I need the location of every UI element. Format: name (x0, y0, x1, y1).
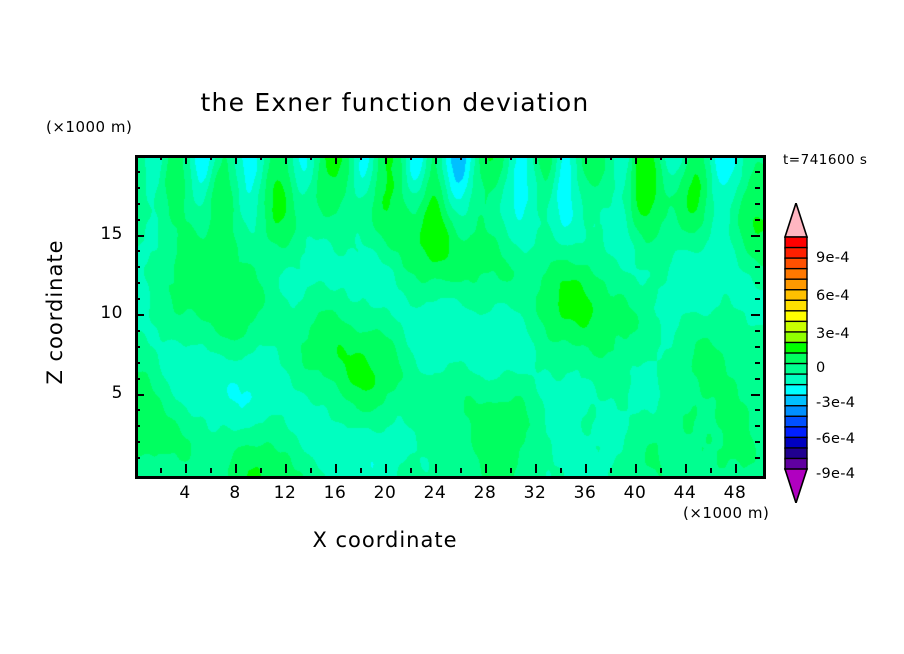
y-tick-minor (755, 219, 760, 221)
x-tick-major (385, 155, 387, 164)
x-tick-minor (410, 155, 412, 160)
y-tick-minor (135, 250, 140, 252)
x-tick-major (285, 464, 287, 473)
y-tick-minor (135, 362, 140, 364)
y-tick-minor (135, 282, 140, 284)
x-tick-minor (460, 468, 462, 473)
x-tick-minor (260, 468, 262, 473)
colorbar-band (785, 342, 807, 353)
colorbar (781, 203, 811, 503)
y-tick-minor (755, 282, 760, 284)
colorbar-band (785, 395, 807, 406)
x-tick-minor (360, 468, 362, 473)
x-tick-minor (610, 468, 612, 473)
x-tick-major (535, 464, 537, 473)
x-tick-major (735, 464, 737, 473)
y-tick-major (751, 314, 760, 316)
y-tick-minor (755, 171, 760, 173)
colorbar-band (785, 300, 807, 311)
y-tick-minor (135, 219, 140, 221)
colorbar-band (785, 237, 807, 248)
colorbar-band (785, 427, 807, 438)
y-tick-major (135, 314, 144, 316)
y-tick-minor (755, 330, 760, 332)
y-tick-minor (135, 378, 140, 380)
x-tick-major (335, 464, 337, 473)
y-tick-minor (135, 171, 140, 173)
colorbar-tick-label: 0 (816, 360, 826, 376)
x-tick-major (635, 155, 637, 164)
colorbar-band (785, 332, 807, 343)
y-tick-minor (135, 330, 140, 332)
x-tick-minor (160, 155, 162, 160)
y-tick-major (135, 235, 144, 237)
colorbar-tick-label: 3e-4 (816, 326, 850, 342)
y-tick-major (135, 394, 144, 396)
x-tick-major (285, 155, 287, 164)
figure-canvas: the Exner function deviation (×1000 m) (… (0, 0, 904, 654)
y-tick-minor (755, 378, 760, 380)
y-tick-minor (135, 409, 140, 411)
x-tick-major (735, 155, 737, 164)
x-tick-minor (510, 155, 512, 160)
colorbar-band (785, 374, 807, 385)
x-tick-minor (560, 468, 562, 473)
x-tick-minor (210, 155, 212, 160)
page-title: the Exner function deviation (0, 88, 790, 117)
y-tick-minor (755, 457, 760, 459)
x-tick-major (435, 464, 437, 473)
y-tick-minor (135, 266, 140, 268)
x-tick-major (685, 155, 687, 164)
x-tick-major (385, 464, 387, 473)
colorbar-band (785, 279, 807, 290)
colorbar-tick-label: -3e-4 (816, 395, 855, 411)
x-tick-major (235, 155, 237, 164)
contour-plot-area (135, 155, 766, 479)
x-tick-minor (460, 155, 462, 160)
y-tick-minor (135, 187, 140, 189)
y-axis-units-label: (×1000 m) (46, 118, 132, 136)
x-tick-major (635, 464, 637, 473)
y-tick-minor (755, 362, 760, 364)
x-tick-major (185, 464, 187, 473)
colorbar-band (785, 448, 807, 459)
x-tick-label: 48 (705, 483, 765, 503)
colorbar-band (785, 248, 807, 259)
x-tick-major (585, 464, 587, 473)
x-tick-major (185, 155, 187, 164)
colorbar-band (785, 290, 807, 301)
colorbar-band (785, 269, 807, 280)
x-tick-major (335, 155, 337, 164)
colorbar-band (785, 311, 807, 322)
x-tick-minor (710, 155, 712, 160)
colorbar-band (785, 406, 807, 417)
colorbar-cap-bottom (785, 469, 807, 503)
x-tick-minor (660, 155, 662, 160)
y-tick-minor (135, 203, 140, 205)
y-tick-minor (755, 409, 760, 411)
y-tick-minor (135, 457, 140, 459)
x-tick-minor (160, 468, 162, 473)
colorbar-band (785, 416, 807, 427)
colorbar-band (785, 353, 807, 364)
y-tick-minor (755, 266, 760, 268)
x-tick-major (485, 464, 487, 473)
colorbar-tick-label: 6e-4 (816, 288, 850, 304)
y-tick-minor (755, 298, 760, 300)
y-tick-major (751, 235, 760, 237)
x-axis-units-label: (×1000 m) (683, 504, 769, 522)
x-tick-major (585, 155, 587, 164)
x-tick-minor (610, 155, 612, 160)
y-tick-minor (135, 298, 140, 300)
x-tick-major (435, 155, 437, 164)
y-tick-minor (135, 425, 140, 427)
colorbar-band (785, 321, 807, 332)
y-tick-minor (755, 425, 760, 427)
colorbar-svg (781, 203, 811, 503)
x-tick-minor (360, 155, 362, 160)
x-tick-minor (660, 468, 662, 473)
colorbar-band (785, 258, 807, 269)
y-tick-label: 10 (63, 303, 123, 323)
y-tick-label: 5 (63, 383, 123, 403)
colorbar-cap-top (785, 203, 807, 237)
time-annotation: t=741600 s (783, 152, 867, 168)
y-tick-minor (755, 346, 760, 348)
x-tick-major (235, 464, 237, 473)
x-tick-minor (310, 155, 312, 160)
colorbar-tick-label: -9e-4 (816, 466, 855, 482)
x-tick-minor (410, 468, 412, 473)
x-axis-title: X coordinate (0, 528, 770, 552)
x-tick-minor (560, 155, 562, 160)
colorbar-band (785, 458, 807, 469)
colorbar-band (785, 364, 807, 375)
y-tick-minor (755, 250, 760, 252)
y-tick-minor (135, 346, 140, 348)
x-tick-minor (510, 468, 512, 473)
x-tick-major (685, 464, 687, 473)
x-tick-major (485, 155, 487, 164)
x-tick-minor (210, 468, 212, 473)
x-tick-minor (260, 155, 262, 160)
colorbar-tick-label: 9e-4 (816, 250, 850, 266)
x-tick-major (535, 155, 537, 164)
x-tick-minor (710, 468, 712, 473)
colorbar-tick-label: -6e-4 (816, 431, 855, 447)
y-tick-major (751, 394, 760, 396)
x-tick-minor (310, 468, 312, 473)
y-tick-minor (755, 203, 760, 205)
y-tick-minor (755, 441, 760, 443)
y-tick-minor (755, 187, 760, 189)
colorbar-band (785, 437, 807, 448)
colorbar-band (785, 385, 807, 396)
contour-field (138, 158, 763, 476)
y-tick-minor (135, 441, 140, 443)
y-tick-label: 15 (63, 224, 123, 244)
